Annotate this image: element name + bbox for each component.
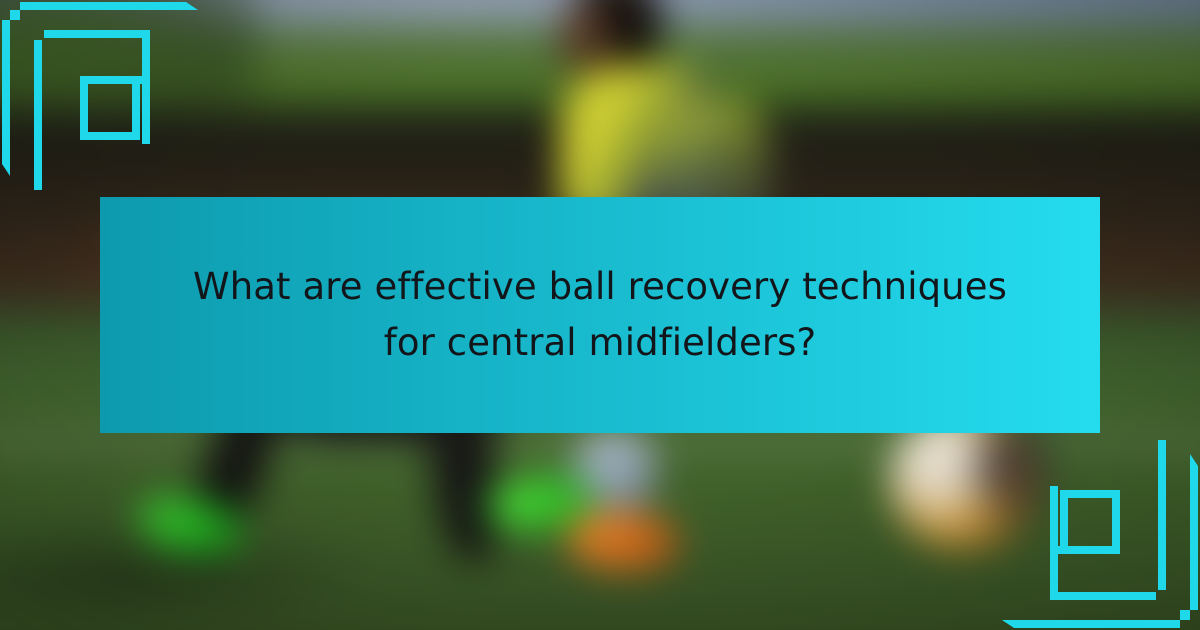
bracket-corner-top-left-icon	[0, 0, 210, 200]
page-title: What are effective ball recovery techniq…	[100, 259, 1100, 371]
headline-banner: What are effective ball recovery techniq…	[100, 197, 1100, 433]
social-card: What are effective ball recovery techniq…	[0, 0, 1200, 630]
bracket-corner-bottom-right-icon	[990, 430, 1200, 630]
